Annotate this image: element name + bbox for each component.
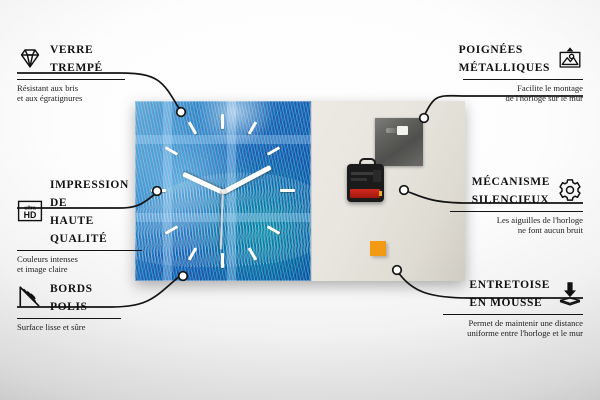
clock-front-face: [135, 101, 311, 281]
feature-sub-line-1: Les aiguilles de l'horloge: [450, 215, 583, 226]
feature-header: VERRE TREMPÉ: [17, 40, 125, 76]
feature-sub-line-1: Facilite le montage: [463, 83, 583, 94]
feature-sub-line-1: Permet de maintenir une distance: [443, 318, 583, 329]
feature-header: ultra HD IMPRESSION DE HAUTE QUALITÉ: [17, 175, 142, 247]
divider: [17, 79, 125, 80]
feature-sub-line-2: uniforme entre l'horloge et le mur: [443, 328, 583, 339]
movement-label-line: [351, 178, 367, 181]
divider: [463, 79, 583, 80]
glass-edge-highlight: [135, 101, 311, 281]
feature-sub-line-2: et image claire: [17, 264, 142, 275]
movement-dial: [373, 170, 381, 182]
feature-header: ENTRETOISE EN MOUSSE: [443, 275, 583, 311]
divider: [17, 318, 121, 319]
feature-title: ENTRETOISE EN MOUSSE: [469, 275, 550, 311]
hanger-slot-highlight: [397, 126, 408, 135]
feature-header: POIGNÉES MÉTALLIQUES: [463, 40, 583, 76]
foam-spacer-arrow-icon: [557, 280, 583, 306]
divider: [443, 314, 583, 315]
movement-hook: [359, 158, 376, 168]
feature-title: IMPRESSION DE HAUTE QUALITÉ: [50, 175, 142, 247]
divider: [450, 211, 583, 212]
infographic-canvas: VERRE TREMPÉ Résistant aux bris et aux é…: [0, 0, 600, 400]
polished-edge-icon: [17, 284, 43, 310]
feature-verre-trempe[interactable]: VERRE TREMPÉ Résistant aux bris et aux é…: [17, 40, 125, 104]
feature-impression-haute-qualite[interactable]: ultra HD IMPRESSION DE HAUTE QUALITÉ Cou…: [17, 175, 142, 275]
aa-battery: [350, 189, 380, 198]
feature-sub-line-2: et aux égratignures: [17, 93, 125, 104]
ultra-hd-icon: ultra HD: [17, 198, 43, 224]
feature-mecanisme-silencieux[interactable]: MÉCANISME SILENCIEUX Les aiguilles de l'…: [450, 172, 583, 236]
orange-foam-spacer: [370, 241, 386, 256]
feature-entretoise-en-mousse[interactable]: ENTRETOISE EN MOUSSE Permet de maintenir…: [443, 275, 583, 339]
svg-text:HD: HD: [24, 210, 37, 220]
feature-header: BORDS POLIS: [17, 279, 121, 315]
feature-sub-line-1: Couleurs intenses: [17, 254, 142, 265]
movement-label-line: [351, 172, 373, 175]
clock-back-panel: [311, 101, 465, 281]
feature-title: VERRE TREMPÉ: [50, 40, 103, 76]
divider: [17, 250, 142, 251]
feature-title: BORDS POLIS: [50, 279, 93, 315]
metal-hanger-plate: [375, 118, 423, 166]
feature-title: POIGNÉES MÉTALLIQUES: [459, 40, 550, 76]
feature-sub-line-1: Résistant aux bris: [17, 83, 125, 94]
feature-bords-polis[interactable]: BORDS POLIS Surface lisse et sûre: [17, 279, 121, 332]
gear-icon: [557, 177, 583, 203]
feature-sub-line-2: de l'horloge sur le mur: [463, 93, 583, 104]
feature-title: MÉCANISME SILENCIEUX: [472, 172, 550, 208]
diamond-icon: [17, 45, 43, 71]
product-photo-group: [135, 101, 465, 281]
quartz-movement-box: [347, 164, 384, 202]
feature-poignees-metalliques[interactable]: POIGNÉES MÉTALLIQUES Facilite le montage…: [463, 40, 583, 104]
picture-frame-hanger-icon: [557, 45, 583, 71]
feature-sub-line-1: Surface lisse et sûre: [17, 322, 121, 333]
feature-sub-line-2: ne font aucun bruit: [450, 225, 583, 236]
feature-header: MÉCANISME SILENCIEUX: [450, 172, 583, 208]
